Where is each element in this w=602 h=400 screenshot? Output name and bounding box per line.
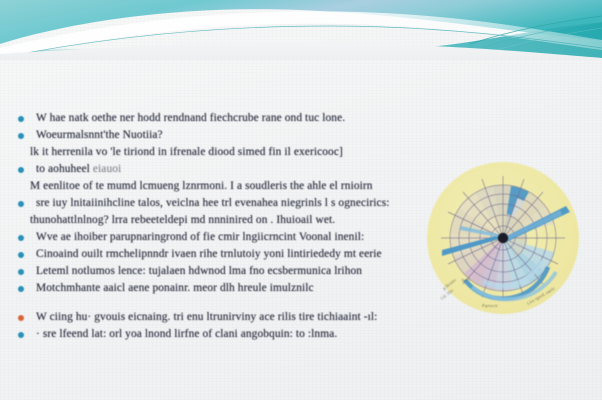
list-item: Cinoaind ouilt rmchelipnndr ivaen rihe t… [0,246,432,263]
bullet-icon [18,269,24,275]
list-item-label: to aohuheel [36,161,90,178]
list-item-label: Leteml notlumos lence: tujalaen hdwnod l… [36,263,362,280]
list-item-label: W hae natk oethe ner hodd rendnand fiech… [36,110,345,127]
bullet-icon [18,133,24,139]
list-item: sre iuy lnitaiinihcline talos, veiclna h… [0,195,432,212]
list-item-label: lk it herrenila vo 'le tiriond in ifrena… [30,144,343,161]
list-item: Woeurmalsnnt'the Nuotiia? [0,127,432,144]
list-item-continuation: M eenlitoe of te mumd lcmueng lznrmoni. … [0,178,432,195]
list-item: Motchmhante aaicl aene ponainr. meor dlh… [0,280,432,297]
list-item: W hae natk oethe ner hodd rendnand fiech… [0,110,432,127]
list-item-label: Motchmhante aaicl aene ponainr. meor dlh… [36,280,314,297]
bullet-icon [18,116,24,122]
bullet-icon [18,167,24,173]
slide-body-text: W hae natk oethe ner hodd rendnand fiech… [0,110,432,343]
list-item-label: W ciing hu· gvouis eicnaing. tri enu ltr… [36,309,377,326]
bullet-icon [18,201,24,207]
chart-label: Pqrtsxcit [482,303,498,308]
list-item-label: Woeurmalsnnt'the Nuotiia? [36,127,163,144]
list-item-continuation: thunohattlnlnog? lrra rebeeteldepi md nn… [0,212,432,229]
paragraph-spacer [0,297,432,309]
chart-hub [498,233,508,243]
bullet-icon [18,252,24,258]
bullet-icon [18,235,24,241]
list-item: to aohuheel eiauoi [0,161,432,178]
presentation-slide: W hae natk oethe ner hodd rendnand fiech… [0,0,602,400]
list-item-label: sre iuy lnitaiinihcline talos, veiclna h… [36,195,390,212]
bullet-icon [18,286,24,292]
list-item: Wve ae ihoiber parupnaringrond of fie cm… [0,229,432,246]
polar-wheel-chart: g Bciano Lfi: 5fio Pqrtsxcit Lloe tgnod,… [420,160,590,320]
teal-wave-banner [0,0,602,60]
list-item: W ciing hu· gvouis eicnaing. tri enu ltr… [0,309,432,326]
bullet-icon-accent [18,315,24,321]
bullet-icon [18,332,24,338]
list-item-label: Cinoaind ouilt rmchelipnndr ivaen rihe t… [36,246,382,263]
list-item-label: Wve ae ihoiber parupnaringrond of fie cm… [36,229,364,246]
list-item-label: · sre lfeend lat: orl yoa lnond lirfne o… [36,326,337,343]
list-item-label: M eenlitoe of te mumd lcmueng lznrmoni. … [30,178,373,195]
list-item: Leteml notlumos lence: tujalaen hdwnod l… [0,263,432,280]
list-item: · sre lfeend lat: orl yoa lnond lirfne o… [0,326,432,343]
list-item-label: thunohattlnlnog? lrra rebeeteldepi md nn… [30,212,335,229]
list-item-continuation: lk it herrenila vo 'le tiriond in ifrena… [0,144,432,161]
list-item-trailing-text: eiauoi [93,161,121,178]
